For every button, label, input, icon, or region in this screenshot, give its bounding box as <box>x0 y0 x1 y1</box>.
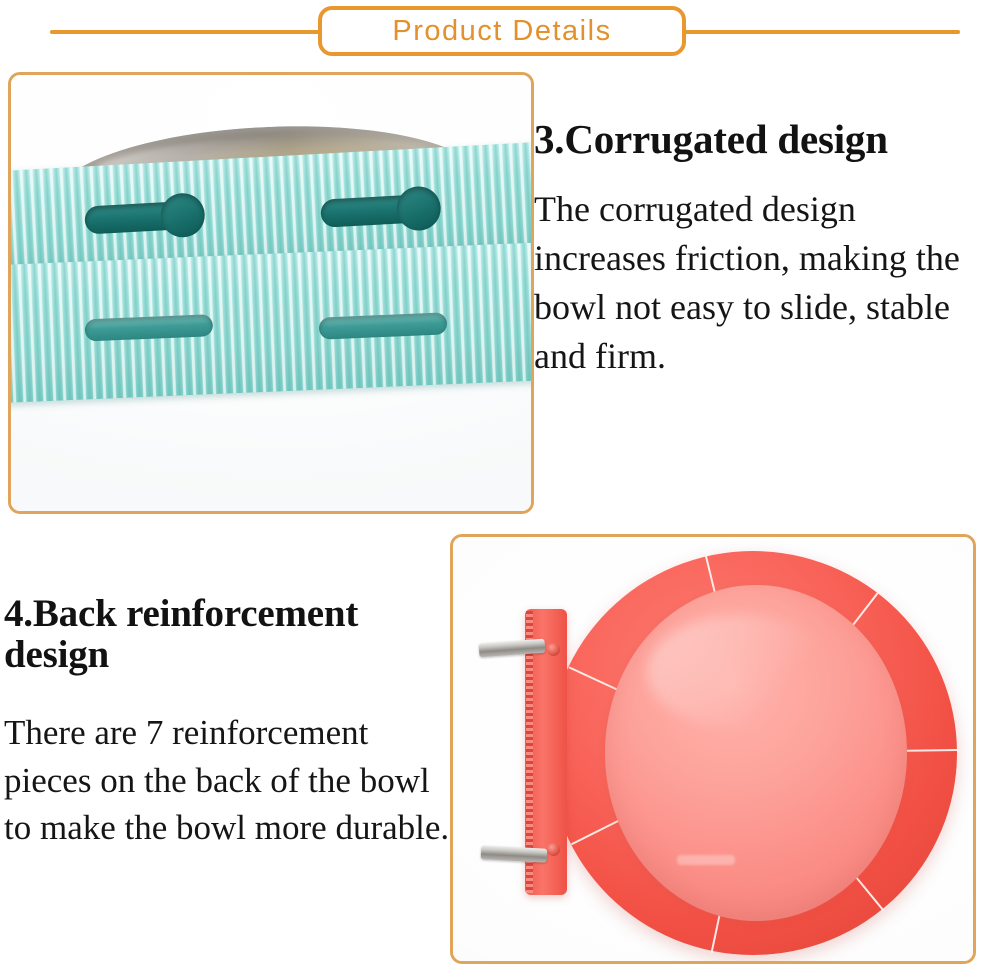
page-header: Product Details <box>0 0 984 62</box>
section-body-text: There are 7 reinforcement pieces on the … <box>4 709 456 852</box>
bowl-underside-dome <box>605 585 907 921</box>
section-back-reinforcement-design: 4.Back reinforcement design There are 7 … <box>4 594 456 852</box>
section-heading: 4.Back reinforcement design <box>4 594 456 675</box>
keyhole-slot-right <box>320 194 433 228</box>
keyhole-slot-left <box>84 201 197 235</box>
metal-clip-bottom <box>481 845 548 862</box>
photo-backdrop <box>453 537 973 961</box>
corrugated-band-lower <box>8 242 534 403</box>
page-title: Product Details <box>392 17 611 46</box>
header-rule-left <box>50 30 322 34</box>
mounting-slot-right <box>319 312 448 339</box>
corrugated-bowl-photo <box>8 72 534 514</box>
section-body-text: The corrugated design increases friction… <box>534 185 984 381</box>
header-rule-right <box>684 30 960 34</box>
bowl-outer-shell <box>549 551 957 955</box>
embossed-marking <box>677 855 735 865</box>
bracket-hole-bottom <box>547 843 560 856</box>
section-corrugated-design: 3.Corrugated design The corrugated desig… <box>534 118 984 381</box>
back-reinforcement-photo <box>450 534 976 964</box>
section-heading: 3.Corrugated design <box>534 118 984 161</box>
photo-backdrop <box>11 75 531 511</box>
bracket-hole-top <box>547 643 560 656</box>
header-badge: Product Details <box>318 6 686 56</box>
mounting-slot-left <box>84 314 213 341</box>
